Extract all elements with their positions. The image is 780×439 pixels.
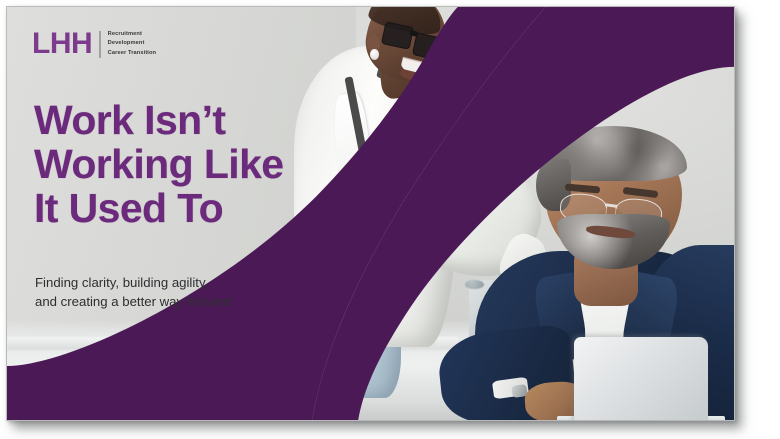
seated-man-figure [487, 123, 734, 420]
subheadline-line-1: Finding clarity, building agility, [35, 273, 231, 292]
woman-jacket-button [362, 196, 368, 202]
logo-tagline-line-1: Recruitment [108, 30, 156, 39]
lhh-wordmark: LHH [32, 29, 92, 59]
woman-pearl-earring [370, 49, 379, 60]
headline-line-3: It Used To [34, 187, 283, 231]
logo-tagline: Recruitment Development Career Transitio… [108, 30, 156, 58]
woman-jacket-button [362, 248, 368, 254]
logo-tagline-line-3: Career Transition [108, 49, 156, 58]
woman-jacket-button [362, 274, 368, 280]
laptop-screen-lid [574, 337, 708, 420]
subheadline-line-2: and creating a better way forward [35, 292, 231, 311]
lhh-logo[interactable]: LHH Recruitment Development Career Trans… [32, 29, 156, 59]
woman-jacket-button [362, 222, 368, 228]
slide-headline: Work Isn’t Working Like It Used To [34, 99, 283, 231]
slide-subheadline: Finding clarity, building agility, and c… [35, 273, 231, 311]
white-chair-post [174, 315, 186, 398]
logo-tagline-line-2: Development [108, 39, 156, 48]
headline-line-2: Working Like [34, 143, 283, 187]
headline-line-1: Work Isn’t [34, 99, 283, 143]
logo-divider-rule [99, 31, 101, 58]
slide-canvas: LHH Recruitment Development Career Trans… [6, 6, 735, 421]
white-chair-slat [174, 337, 298, 344]
